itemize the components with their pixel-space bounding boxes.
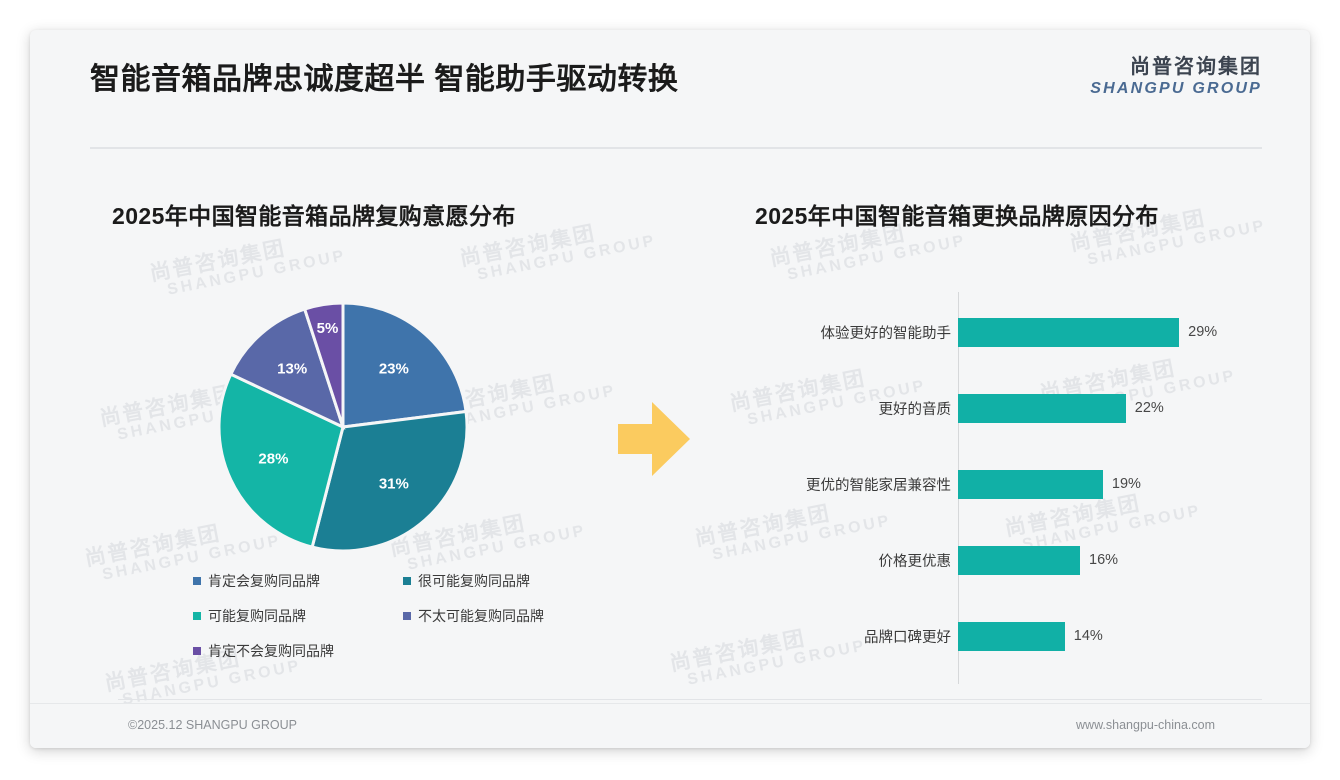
bar-chart-row: 体验更好的智能助手29% [755,314,1255,350]
legend-swatch-icon [403,612,411,620]
pie-chart-title: 2025年中国智能音箱品牌复购意愿分布 [112,197,516,231]
bar-fill [958,546,1080,575]
legend-item[interactable]: 不太可能复购同品牌 [403,598,613,633]
watermark-en: SHANGPU GROUP [476,233,658,284]
legend-item[interactable]: 可能复购同品牌 [193,598,403,633]
bar-chart-row: 品牌口碑更好14% [755,618,1255,654]
legend-item[interactable]: 肯定会复购同品牌 [193,563,403,598]
pie-legend: 肯定会复购同品牌很可能复购同品牌可能复购同品牌不太可能复购同品牌肯定不会复购同品… [193,563,613,668]
bar-category-label: 更优的智能家居兼容性 [755,474,958,495]
page-title: 智能音箱品牌忠诚度超半 智能助手驱动转换 [90,54,678,98]
bar-chart-row: 价格更优惠16% [755,542,1255,578]
bar-chart-row: 更好的音质22% [755,390,1255,426]
bar-value-label: 16% [1089,552,1118,568]
right-arrow-icon [618,398,690,485]
legend-swatch-icon [403,577,411,585]
legend-item-label: 肯定不会复购同品牌 [208,641,334,661]
pie-chart: 23%31%28%13%5% [218,302,468,552]
bar-category-label: 价格更优惠 [755,550,958,571]
bar-value-label: 19% [1112,476,1141,492]
pie-slice-label: 23% [379,360,409,377]
legend-item-label: 可能复购同品牌 [208,606,306,626]
legend-item-label: 不太可能复购同品牌 [418,606,544,626]
legend-swatch-icon [193,647,201,655]
bar-chart-row: 更优的智能家居兼容性19% [755,466,1255,502]
bar-value-label: 22% [1135,400,1164,416]
watermark: 尚普咨询集团 SHANGPU GROUP [148,227,348,303]
footnote-divider [118,699,1262,700]
header-divider [90,147,1262,149]
brand-name-cn: 尚普咨询集团 [1090,56,1262,79]
bar-fill [958,394,1126,423]
pie-slice-label: 28% [258,451,288,468]
watermark-cn: 尚普咨询集团 [148,227,345,286]
legend-swatch-icon [193,612,201,620]
bar-fill [958,318,1179,347]
site-url-link[interactable]: www.shangpu-china.com [1076,718,1215,732]
legend-item[interactable]: 很可能复购同品牌 [403,563,613,598]
bar-chart: 体验更好的智能助手29%更好的音质22%更优的智能家居兼容性19%价格更优惠16… [755,292,1255,692]
bar-fill [958,470,1103,499]
pie-slice-label: 13% [277,360,307,377]
slide-card: 尚普咨询集团 SHANGPU GROUP 尚普咨询集团 SHANGPU GROU… [30,30,1310,748]
bar-category-label: 体验更好的智能助手 [755,322,958,343]
legend-item-label: 很可能复购同品牌 [418,571,530,591]
brand-logo: 尚普咨询集团 SHANGPU GROUP [1090,56,1262,98]
watermark-en: SHANGPU GROUP [166,248,348,299]
copyright-text: ©2025.12 SHANGPU GROUP [128,718,297,732]
right-arrow-svg [618,398,690,480]
pie-slice-label: 31% [379,476,409,493]
pie-chart-svg: 23%31%28%13%5% [218,302,468,552]
bar-category-label: 品牌口碑更好 [755,626,958,647]
watermark-en: SHANGPU GROUP [786,233,968,284]
legend-item[interactable]: 肯定不会复购同品牌 [193,633,403,668]
slide-header: 智能音箱品牌忠诚度超半 智能助手驱动转换 尚普咨询集团 SHANGPU GROU… [30,30,1310,118]
bar-value-label: 29% [1188,324,1217,340]
bar-chart-title: 2025年中国智能音箱更换品牌原因分布 [755,197,1159,231]
slide-footer: ©2025.12 SHANGPU GROUP www.shangpu-china… [30,703,1310,748]
pie-slice-label: 5% [317,320,339,337]
brand-name-en: SHANGPU GROUP [1090,79,1262,98]
bar-category-label: 更好的音质 [755,398,958,419]
legend-item-label: 肯定会复购同品牌 [208,571,320,591]
pie-slices [219,303,467,551]
bar-value-label: 14% [1074,628,1103,644]
legend-swatch-icon [193,577,201,585]
bar-fill [958,622,1065,651]
